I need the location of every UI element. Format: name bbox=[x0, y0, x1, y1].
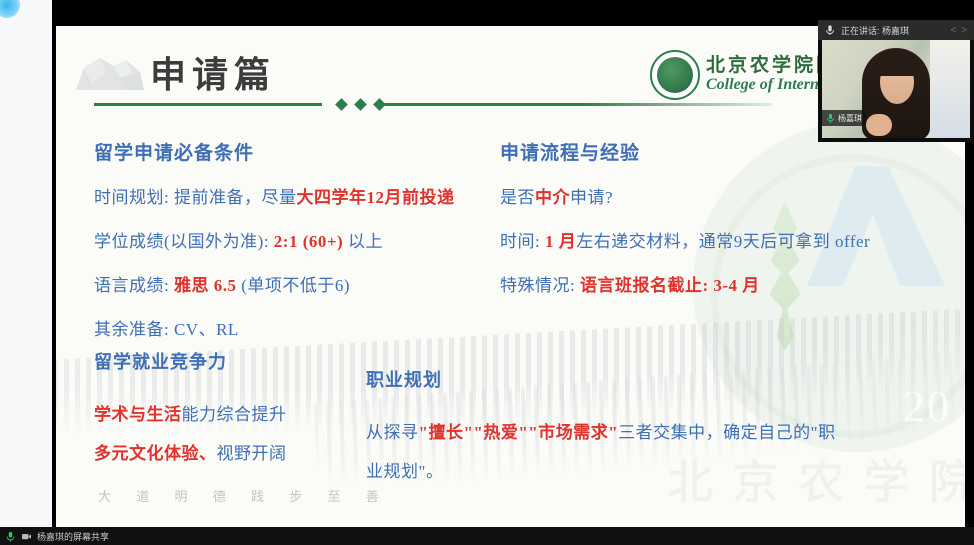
video-nav-controls[interactable]: < > bbox=[951, 25, 968, 36]
slide-title: 申请篇 bbox=[150, 46, 276, 98]
text-run-blue: 时间规划: 提前准备，尽量 bbox=[94, 188, 296, 207]
lines-requirements: 时间规划: 提前准备，尽量大四学年12月前投递学位成绩(以国外为准): 2:1 … bbox=[94, 183, 514, 340]
heading-process: 申请流程与经验 bbox=[500, 138, 920, 165]
text-run-blue: 左右递交材料，通常9天后可拿到 offer bbox=[576, 232, 870, 251]
text-run-red: 大四学年12月前投递 bbox=[296, 188, 454, 207]
text-run-red: 语言班报名截止: 3-4 月 bbox=[580, 276, 760, 295]
text-run-blue: 学位成绩(以国外为准): bbox=[94, 232, 274, 251]
text-run-blue: 三者交集中，确定自己的"职 bbox=[618, 423, 835, 442]
text-line: 特殊情况: 语言班报名截止: 3-4 月 bbox=[500, 271, 920, 296]
text-run-red: "擅长""热爱""市场需求" bbox=[419, 423, 619, 442]
microphone-icon bbox=[824, 24, 836, 36]
divider-segment-mid bbox=[382, 103, 582, 106]
text-run-blue: 业规划"。 bbox=[366, 462, 443, 481]
text-run-blue: 从探寻 bbox=[366, 423, 419, 442]
divider-segment-left bbox=[94, 103, 322, 106]
camera-icon[interactable] bbox=[21, 531, 32, 542]
text-run-blue: 时间: bbox=[500, 232, 545, 251]
text-run-blue: 语言成绩: bbox=[94, 276, 174, 295]
text-run-red: 多元文化体验、 bbox=[94, 444, 217, 463]
text-line: 是否中介申请? bbox=[500, 183, 920, 208]
college-seal-icon bbox=[650, 50, 700, 100]
text-run-blue: 以上 bbox=[343, 232, 383, 251]
lines-process: 是否中介申请?时间: 1 月左右递交材料，通常9天后可拿到 offer特殊情况:… bbox=[500, 183, 920, 296]
column-requirements: 留学申请必备条件 时间规划: 提前准备，尽量大四学年12月前投递学位成绩(以国外… bbox=[94, 138, 514, 359]
blue-dot-decor bbox=[0, 0, 20, 18]
text-line: 语言成绩: 雅思 6.5 (单项不低于6) bbox=[94, 271, 514, 296]
text-run-blue: 视野开阔 bbox=[217, 444, 287, 463]
text-line: 学位成绩(以国外为准): 2:1 (60+) 以上 bbox=[94, 227, 514, 252]
text-run-red: 学术与生活 bbox=[94, 405, 182, 424]
participant-name-badge: 杨嘉琪 bbox=[822, 110, 866, 126]
video-panel[interactable]: 正在讲话: 杨嘉琪 < > 杨嘉琪 bbox=[818, 20, 974, 142]
microphone-icon[interactable] bbox=[5, 531, 16, 542]
text-run-red: 2:1 (60+) bbox=[274, 232, 343, 251]
heading-requirements: 留学申请必备条件 bbox=[94, 138, 514, 165]
text-line: 从探寻"擅长""热爱""市场需求"三者交集中，确定自己的"职 bbox=[366, 418, 806, 443]
diamond-icon-1 bbox=[335, 98, 348, 111]
heading-career-planning: 职业规划 bbox=[366, 366, 806, 392]
slide-footer-motto: 大 道 明 德 践 步 至 善 bbox=[98, 486, 390, 505]
text-line: 时间规划: 提前准备，尽量大四学年12月前投递 bbox=[94, 183, 514, 208]
text-run-red: 1 月 bbox=[545, 232, 576, 251]
text-run-blue: 是否 bbox=[500, 188, 535, 207]
video-background-window bbox=[930, 40, 970, 138]
screen-root: 20 北 京 农 学 院 申请篇 北京农学院国际学 College of Int… bbox=[0, 0, 974, 545]
text-line: 其余准备: CV、RL bbox=[94, 315, 514, 340]
text-run-blue: 申请? bbox=[570, 188, 613, 207]
participant-name: 杨嘉琪 bbox=[838, 113, 862, 124]
column-process: 申请流程与经验 是否中介申请?时间: 1 月左右递交材料，通常9天后可拿到 of… bbox=[500, 138, 920, 315]
text-line: 业规划"。 bbox=[366, 457, 806, 482]
column-career-planning: 职业规划 从探寻"擅长""热爱""市场需求"三者交集中，确定自己的"职业规划"。 bbox=[366, 366, 806, 496]
text-run-blue: (单项不低于6) bbox=[236, 276, 350, 295]
taskbar: 杨嘉琪的屏幕共享 bbox=[0, 527, 974, 545]
video-person-hand bbox=[866, 114, 892, 136]
video-panel-header: 正在讲话: 杨嘉琪 < > bbox=[818, 20, 974, 40]
stone-decoration-icon bbox=[70, 44, 148, 96]
text-run-red: 中介 bbox=[535, 188, 570, 207]
text-run-red: 雅思 6.5 bbox=[174, 276, 237, 295]
screen-share-label: 杨嘉琪的屏幕共享 bbox=[37, 530, 109, 543]
text-run-blue: 特殊情况: bbox=[500, 276, 580, 295]
text-run-blue: 其余准备: CV、RL bbox=[94, 320, 239, 339]
text-run-blue: 能力综合提升 bbox=[182, 405, 287, 424]
diamond-icon-2 bbox=[354, 98, 367, 111]
speaking-label: 正在讲话: 杨嘉琪 bbox=[841, 24, 909, 37]
microphone-active-icon bbox=[826, 113, 835, 124]
lines-career-planning: 从探寻"擅长""热爱""市场需求"三者交集中，确定自己的"职业规划"。 bbox=[366, 418, 806, 482]
text-line: 时间: 1 月左右递交材料，通常9天后可拿到 offer bbox=[500, 227, 920, 252]
left-edge-strip bbox=[0, 0, 52, 527]
